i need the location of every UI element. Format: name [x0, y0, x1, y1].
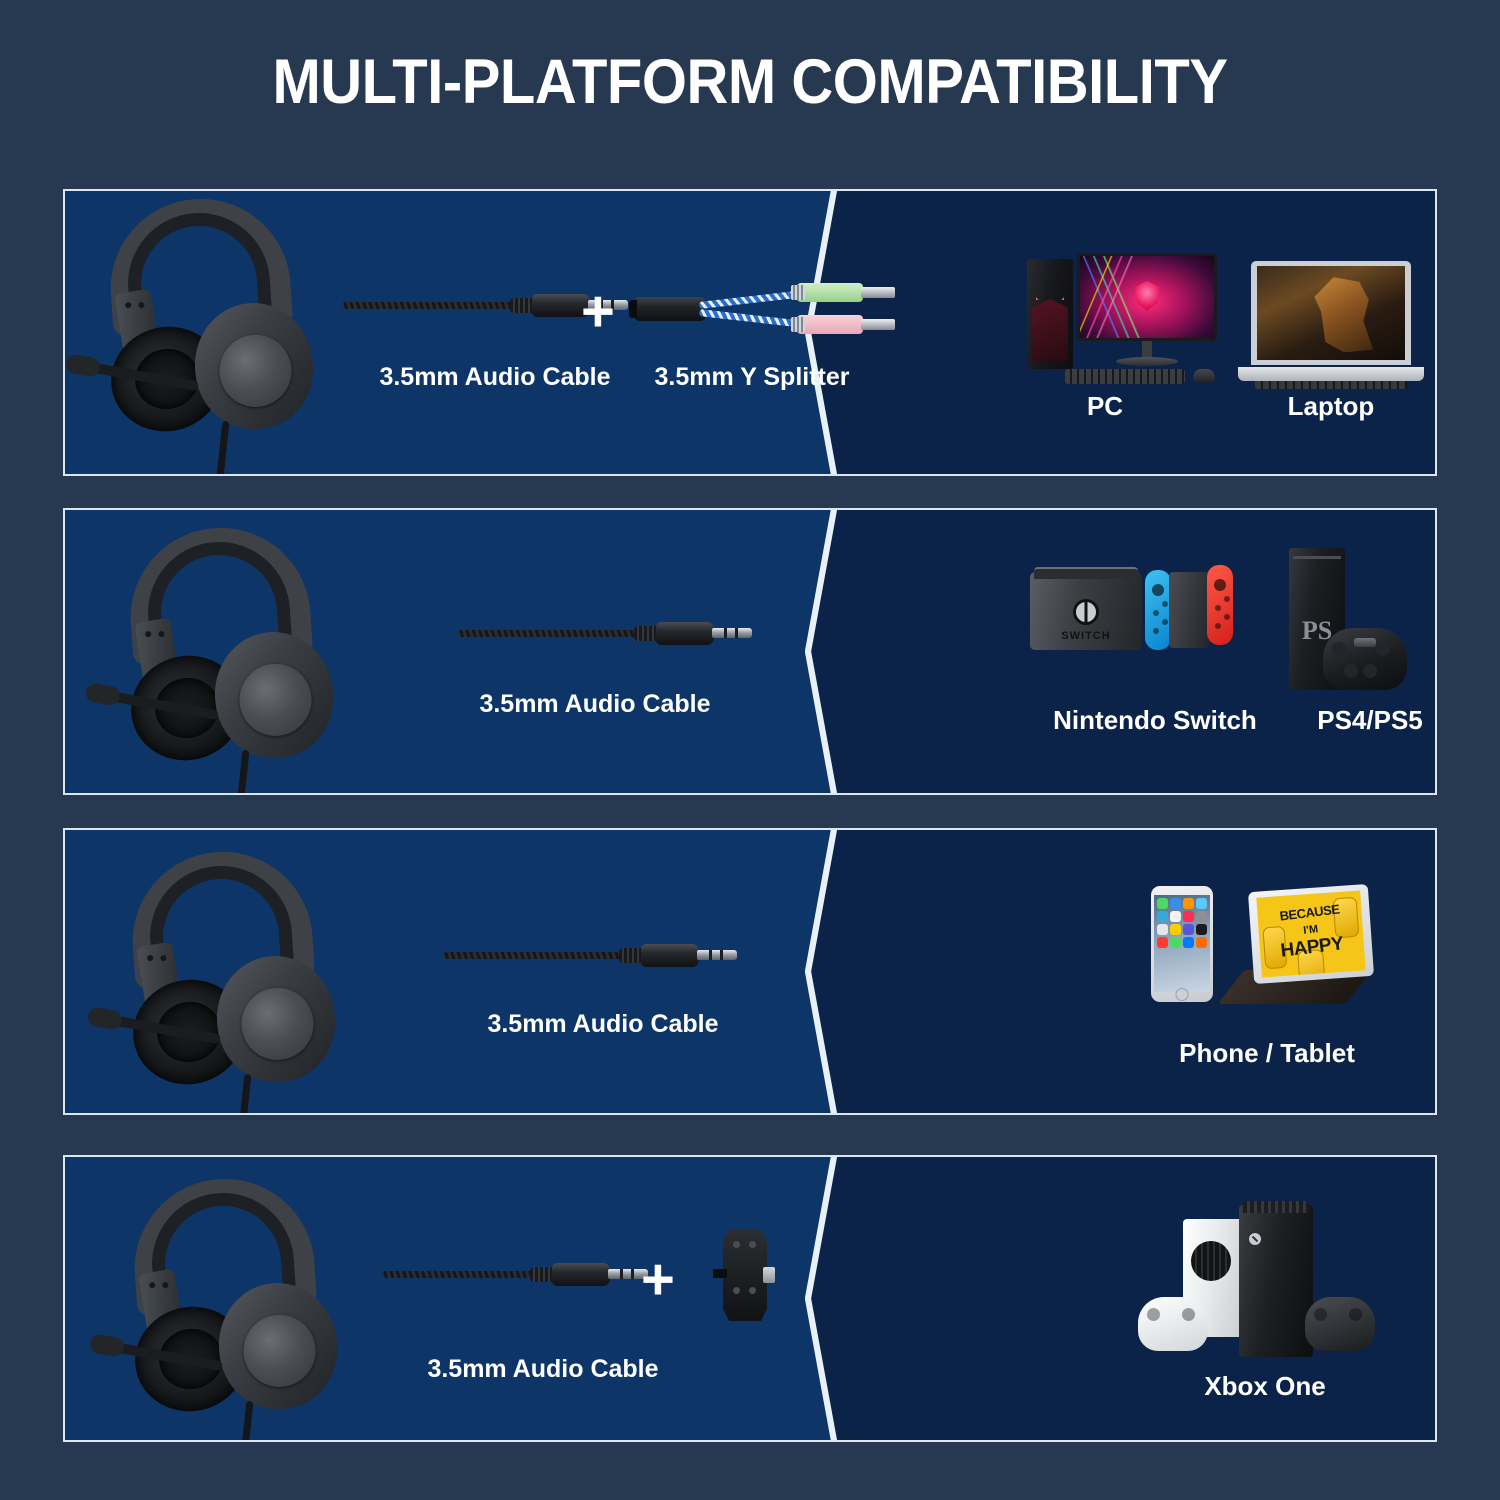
accessory-label-audio-cable: 3.5mm Audio Cable: [435, 690, 755, 719]
compatibility-row-xbox: + 3.5mm Audio Cable Xbox One: [63, 1155, 1437, 1442]
switch-wordmark: SWITCH: [1061, 630, 1110, 642]
device-label-playstation: PS4/PS5: [1295, 705, 1437, 736]
device-label-nintendo-switch: Nintendo Switch: [1025, 705, 1285, 736]
laptop-base-icon: [1238, 367, 1424, 381]
page-title: MULTI-PLATFORM COMPATIBILITY: [60, 46, 1440, 118]
device-label-laptop: Laptop: [1261, 391, 1401, 422]
xbox-console-icon: [1239, 1205, 1313, 1357]
tablet-text-line1: BECAUSE: [1279, 902, 1340, 924]
tablet-text-line3: HAPPY: [1279, 933, 1344, 963]
accessory-label-audio-cable: 3.5mm Audio Cable: [375, 363, 615, 392]
gaming-headset-icon: [103, 528, 333, 763]
audio-cable-icon: [443, 942, 703, 968]
tablet-icon: BECAUSE I'M HAPPY: [1248, 884, 1374, 984]
audio-cable-icon: [342, 292, 592, 318]
accessory-label-y-splitter: 3.5mm Y Splitter: [637, 363, 867, 392]
y-splitter-icon: [635, 279, 885, 339]
compatibility-row-pc: + 3.5mm Audio Cable 3.5mm Y Splitter PC …: [63, 189, 1437, 476]
joycon-blue-icon: [1145, 570, 1171, 650]
mouse-icon: [1193, 369, 1215, 383]
joycon-red-icon: [1207, 565, 1233, 645]
accessory-label-audio-cable: 3.5mm Audio Cable: [443, 1010, 763, 1039]
xbox-controller-white-icon: [1138, 1297, 1208, 1351]
tablet-screen: BECAUSE I'M HAPPY: [1256, 890, 1365, 977]
monitor-icon: [1077, 253, 1217, 341]
monitor-base-icon: [1116, 357, 1178, 366]
switch-console-icon: [1169, 572, 1209, 648]
gaming-headset-icon: [105, 852, 335, 1087]
device-label-phone-tablet: Phone / Tablet: [1137, 1038, 1397, 1069]
accessory-label-audio-cable: 3.5mm Audio Cable: [383, 1355, 703, 1384]
device-label-xbox: Xbox One: [1155, 1371, 1375, 1402]
phone-home-button: [1176, 988, 1189, 1001]
tablet-text-line2: I'M: [1303, 924, 1319, 938]
xbox-controller-dark-icon: [1305, 1297, 1375, 1351]
audio-cable-icon: [458, 620, 718, 646]
xbox-badge-icon: [1249, 1233, 1261, 1245]
compatibility-row-console: 3.5mm Audio Cable SWITCH Nintendo Switch…: [63, 508, 1437, 795]
nintendo-switch-icon: SWITCH: [1030, 572, 1142, 650]
xbox-stereo-adapter-icon: [713, 1229, 775, 1321]
gaming-headset-icon: [107, 1179, 337, 1414]
laptop-icon: [1251, 261, 1411, 365]
audio-cable-icon: [382, 1261, 622, 1287]
plus-sign-2: +: [641, 1251, 675, 1309]
dualshock-controller-icon: [1323, 628, 1407, 690]
plus-sign-1: +: [581, 283, 615, 341]
phone-screen: [1154, 895, 1210, 992]
keyboard-icon: [1065, 369, 1185, 384]
device-label-pc: PC: [1040, 391, 1170, 422]
phone-tablet-icon: [1151, 886, 1213, 1002]
gaming-headset-icon: [83, 199, 313, 434]
compatibility-row-mobile: 3.5mm Audio Cable: [63, 828, 1437, 1115]
desktop-pc-icon: [1027, 259, 1073, 369]
